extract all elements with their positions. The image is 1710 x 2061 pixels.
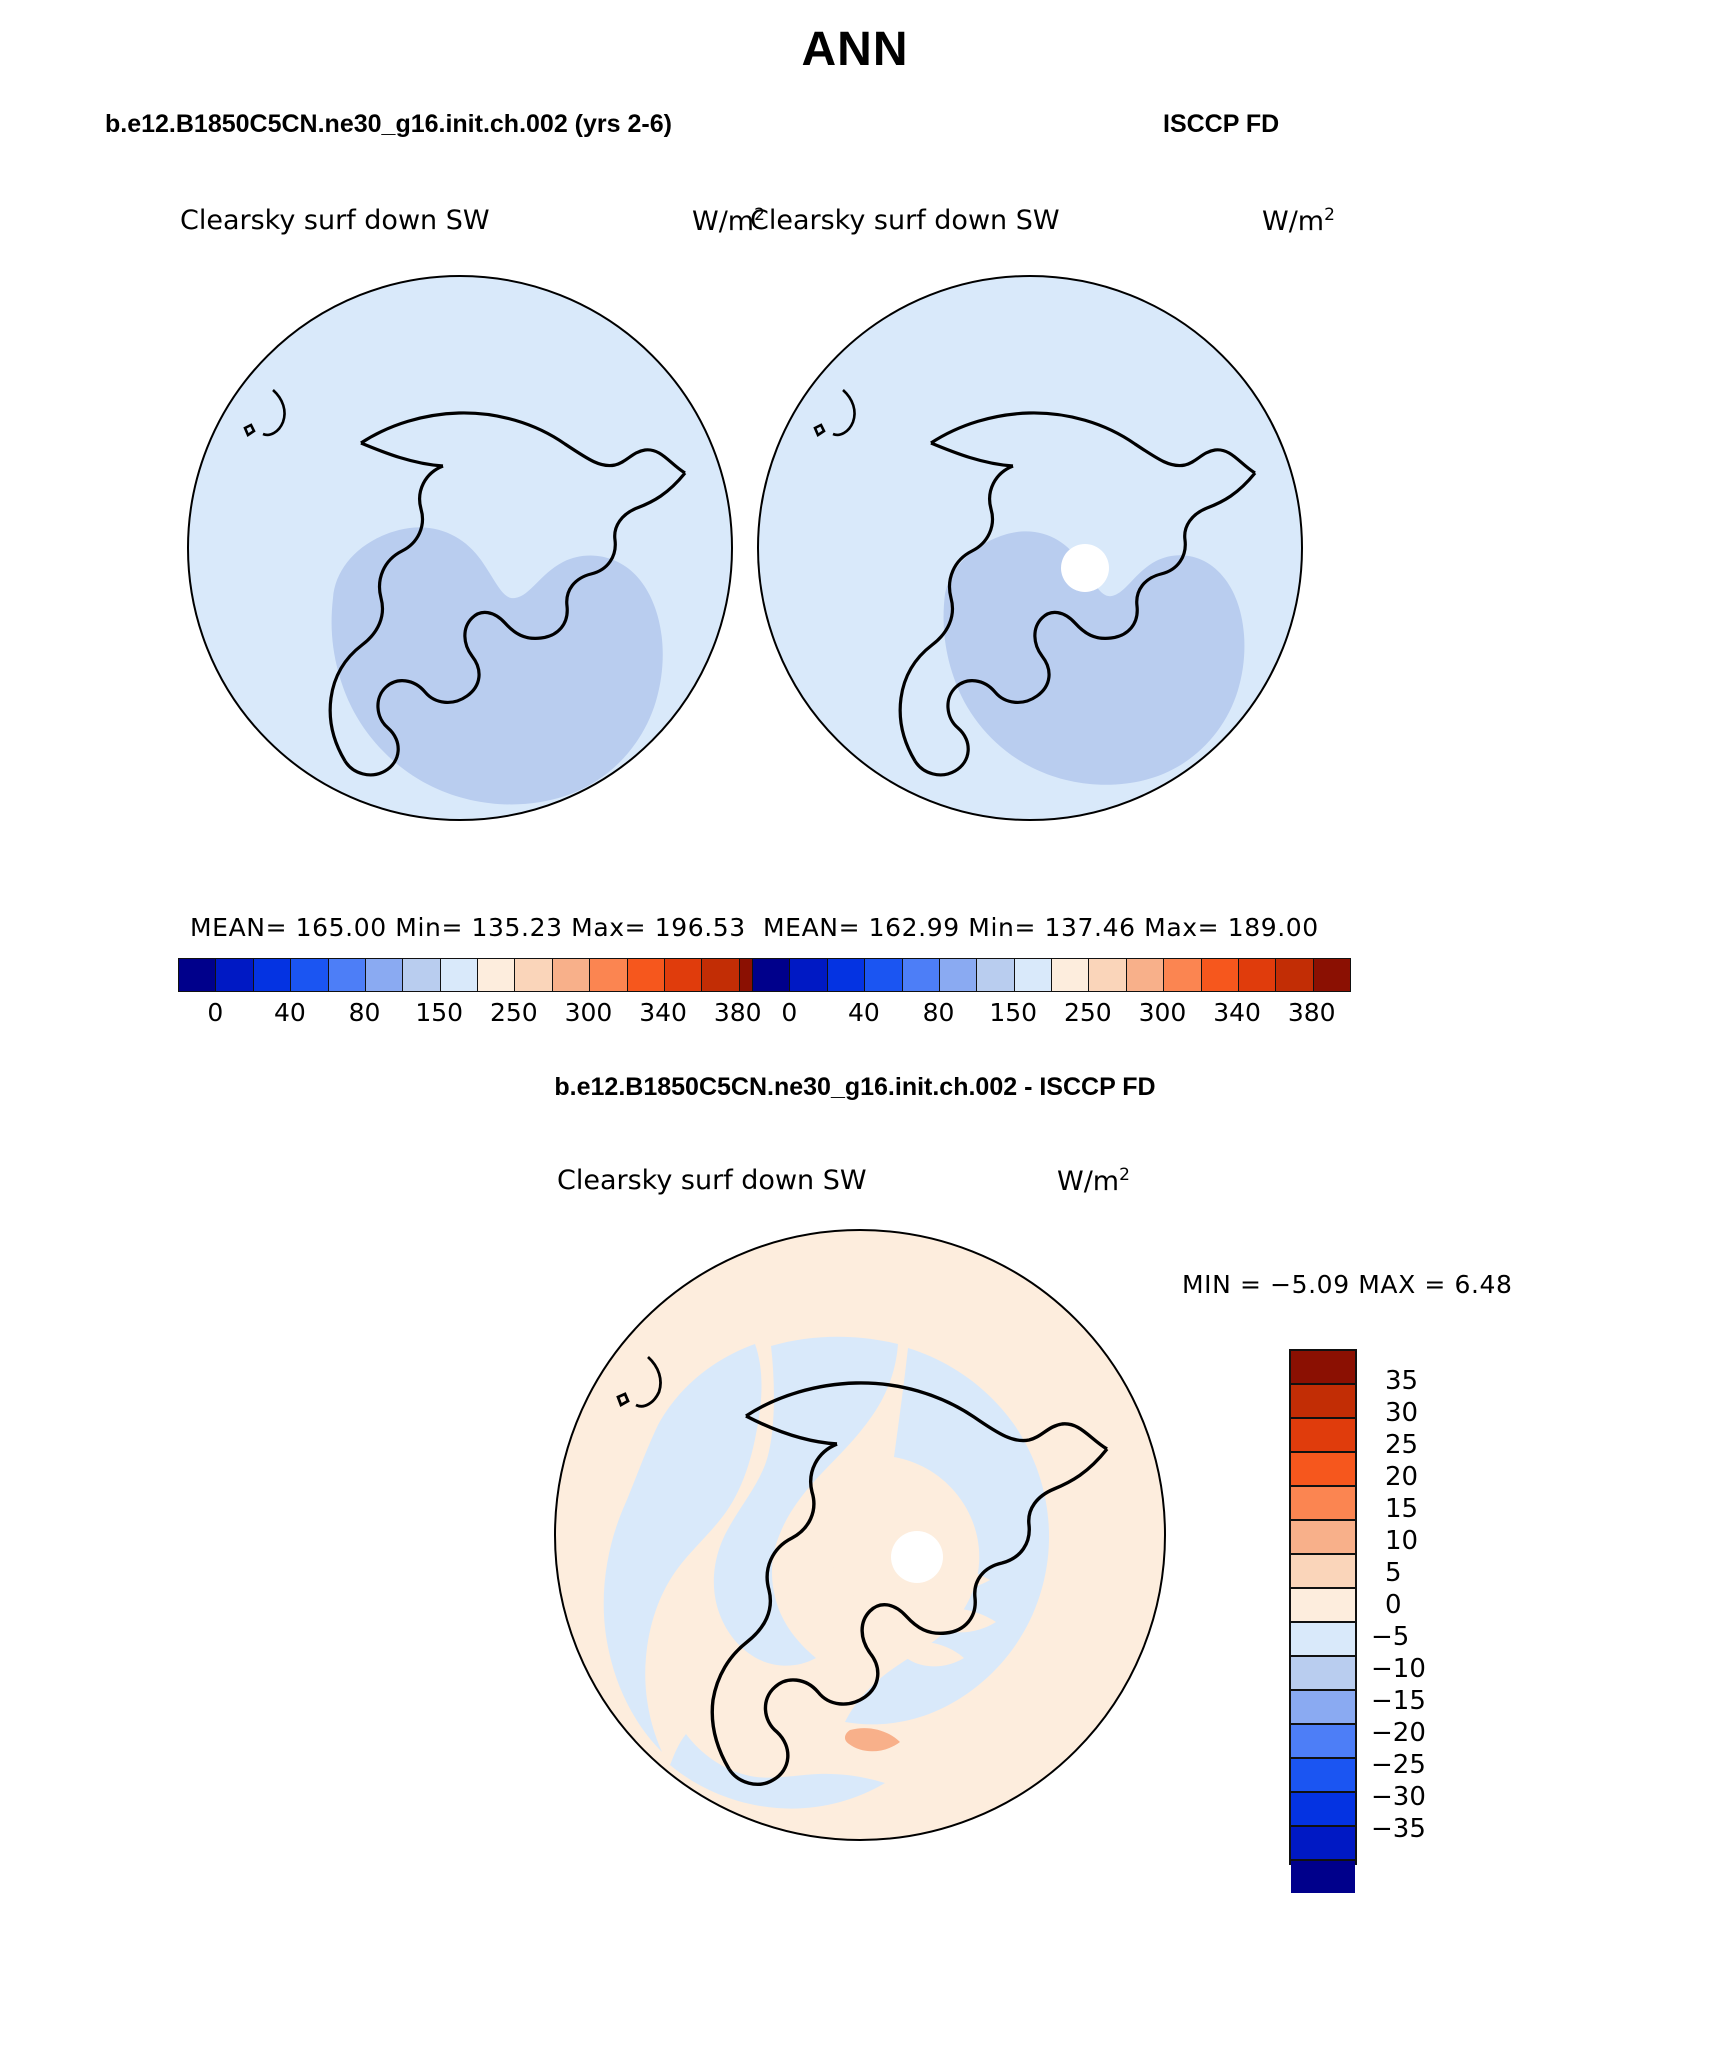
colorbar-cell [753, 959, 790, 991]
colorbar-cell [1291, 1691, 1355, 1725]
colorbar-cell [1089, 959, 1126, 991]
left-field-row: Clearsky surf down SW W/m2 [180, 205, 800, 236]
right-stats: MEAN= 162.99 Min= 137.46 Max= 189.00 [763, 913, 1319, 942]
colorbar-cell [1239, 959, 1276, 991]
colorbar-cell [1164, 959, 1201, 991]
diff-units: W/m2 [1057, 1165, 1130, 1197]
colorbar-tick-label: 5 [1385, 1558, 1402, 1588]
colorbar-cell [1291, 1759, 1355, 1793]
colorbar-tick-label: 300 [1139, 998, 1187, 1027]
colorbar-cell [1291, 1861, 1355, 1893]
colorbar-tick-label: 0 [207, 998, 223, 1027]
right-field-label: Clearsky surf down SW [750, 205, 1060, 236]
colorbar-cell [940, 959, 977, 991]
colorbar-tick-label: 340 [1213, 998, 1261, 1027]
right-units: W/m2 [1262, 205, 1335, 237]
colorbar-tick-label: 40 [274, 998, 306, 1027]
colorbar-tick-label: −15 [1371, 1686, 1426, 1716]
diff-minmax: MIN = −5.09 MAX = 6.48 [1182, 1270, 1513, 1299]
colorbar-cell [1127, 959, 1164, 991]
diff-colorbar-ticks: 35302520151050−5−10−15−20−25−30−35 [1371, 1349, 1461, 1861]
diff-colorbar-bar [1289, 1349, 1357, 1865]
diff-field-label: Clearsky surf down SW [557, 1165, 867, 1196]
colorbar-cell [702, 959, 739, 991]
colorbar-cell [665, 959, 702, 991]
colorbar-cell [366, 959, 403, 991]
diff-map [550, 1220, 1170, 1850]
colorbar-tick-label: 0 [781, 998, 797, 1027]
colorbar-cell [441, 959, 478, 991]
colorbar-cell [403, 959, 440, 991]
colorbar-cell [1291, 1555, 1355, 1589]
diff-field-row: Clearsky surf down SW W/m2 [557, 1165, 1177, 1196]
colorbar-cell [1291, 1657, 1355, 1691]
left-panel-title: b.e12.B1850C5CN.ne30_g16.init.ch.002 (yr… [105, 110, 672, 139]
colorbar-cell [478, 959, 515, 991]
colorbar-cell [1291, 1385, 1355, 1419]
colorbar-cell [1291, 1725, 1355, 1759]
colorbar-tick-label: 10 [1385, 1526, 1418, 1556]
colorbar-cell [1314, 959, 1350, 991]
colorbar-cell [216, 959, 253, 991]
right-panel-title: ISCCP FD [1163, 110, 1279, 139]
diff-panel-title: b.e12.B1850C5CN.ne30_g16.init.ch.002 - I… [0, 1073, 1710, 1102]
colorbar-tick-label: 80 [923, 998, 955, 1027]
left-colorbar-ticks: 04080150250300340380 [178, 998, 778, 1032]
colorbar-cell [1276, 959, 1313, 991]
colorbar-cell [628, 959, 665, 991]
right-colorbar: 04080150250300340380 [752, 958, 1352, 1032]
colorbar-tick-label: 35 [1385, 1366, 1418, 1396]
colorbar-tick-label: 150 [989, 998, 1037, 1027]
page-title: ANN [0, 22, 1710, 77]
colorbar-tick-label: −25 [1371, 1750, 1426, 1780]
colorbar-cell [1015, 959, 1052, 991]
left-map [185, 268, 735, 828]
colorbar-cell [1291, 1623, 1355, 1657]
colorbar-cell [515, 959, 552, 991]
colorbar-cell [1291, 1351, 1355, 1385]
colorbar-cell [865, 959, 902, 991]
colorbar-cell [977, 959, 1014, 991]
colorbar-tick-label: 40 [848, 998, 880, 1027]
colorbar-tick-label: −30 [1371, 1782, 1426, 1812]
colorbar-tick-label: 30 [1385, 1398, 1418, 1428]
colorbar-tick-label: 380 [1288, 998, 1336, 1027]
colorbar-cell [1291, 1453, 1355, 1487]
left-field-label: Clearsky surf down SW [180, 205, 490, 236]
pole-hole-diff [891, 1531, 943, 1583]
colorbar-cell [1202, 959, 1239, 991]
colorbar-tick-label: 0 [1385, 1590, 1402, 1620]
pole-hole-right [1061, 544, 1109, 592]
colorbar-cell [903, 959, 940, 991]
right-field-row: Clearsky surf down SW W/m2 [750, 205, 1370, 236]
colorbar-tick-label: 340 [639, 998, 687, 1027]
colorbar-cell [828, 959, 865, 991]
right-map [755, 268, 1305, 828]
colorbar-cell [254, 959, 291, 991]
colorbar-cell [1291, 1793, 1355, 1827]
colorbar-cell [590, 959, 627, 991]
colorbar-cell [1052, 959, 1089, 991]
colorbar-tick-label: −5 [1371, 1622, 1409, 1652]
left-colorbar: 04080150250300340380 [178, 958, 778, 1032]
colorbar-tick-label: −20 [1371, 1718, 1426, 1748]
colorbar-cell [1291, 1521, 1355, 1555]
colorbar-tick-label: −35 [1371, 1814, 1426, 1844]
colorbar-cell [179, 959, 216, 991]
colorbar-tick-label: 15 [1385, 1494, 1418, 1524]
diff-units-exponent: 2 [1119, 1165, 1130, 1185]
colorbar-cell [329, 959, 366, 991]
colorbar-tick-label: 300 [565, 998, 613, 1027]
colorbar-cell [1291, 1487, 1355, 1521]
colorbar-tick-label: 25 [1385, 1430, 1418, 1460]
colorbar-tick-label: 250 [1064, 998, 1112, 1027]
colorbar-cell [1291, 1589, 1355, 1623]
left-colorbar-bar [178, 958, 777, 992]
right-units-exponent: 2 [1324, 205, 1335, 225]
colorbar-cell [553, 959, 590, 991]
colorbar-tick-label: −10 [1371, 1654, 1426, 1684]
colorbar-tick-label: 250 [490, 998, 538, 1027]
right-colorbar-bar [752, 958, 1351, 992]
colorbar-cell [790, 959, 827, 991]
colorbar-cell [1291, 1419, 1355, 1453]
colorbar-tick-label: 80 [349, 998, 381, 1027]
colorbar-cell [1291, 1827, 1355, 1861]
colorbar-cell [291, 959, 328, 991]
right-colorbar-ticks: 04080150250300340380 [752, 998, 1352, 1032]
left-stats: MEAN= 165.00 Min= 135.23 Max= 196.53 [190, 913, 746, 942]
colorbar-tick-label: 20 [1385, 1462, 1418, 1492]
colorbar-tick-label: 150 [415, 998, 463, 1027]
